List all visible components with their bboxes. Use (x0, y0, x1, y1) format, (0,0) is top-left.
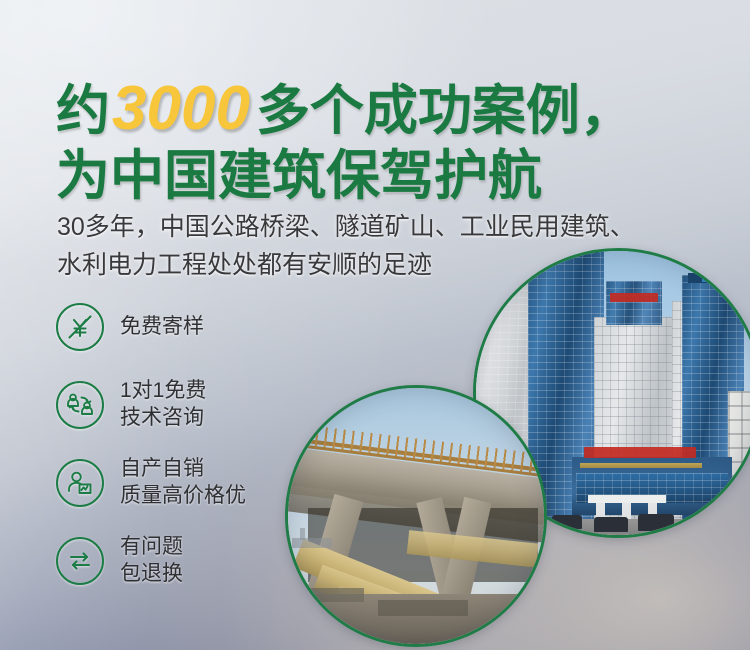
subtitle-line-1: 30多年，中国公路桥梁、隧道矿山、工业民用建筑、 (57, 208, 737, 246)
person-chart-icon (56, 459, 104, 507)
feature-line: 免费寄样 (120, 314, 204, 341)
feature-line: 有问题 (120, 534, 183, 561)
two-person-exchange-icon (56, 381, 104, 429)
feature-list: 免费寄样 1对1免 (56, 296, 246, 608)
photo-bridge (285, 385, 547, 647)
feature-line: 包退换 (120, 561, 183, 588)
feature-label-free-sample: 免费寄样 (120, 314, 204, 341)
photo-bridge-content (288, 388, 544, 644)
feature-label-consult: 1对1免费 技术咨询 (120, 378, 206, 432)
headline-prefix: 约 (56, 81, 110, 141)
yuan-slash-icon (56, 303, 104, 351)
feature-line: 质量高价格优 (120, 483, 246, 510)
feature-line: 1对1免费 (120, 378, 206, 405)
feature-line: 自产自销 (120, 456, 246, 483)
feature-item-consult[interactable]: 1对1免费 技术咨询 (56, 374, 246, 436)
feature-item-free-sample[interactable]: 免费寄样 (56, 296, 246, 358)
feature-item-returns[interactable]: 有问题 包退换 (56, 530, 246, 592)
headline-line-1: 约3000多个成功案例， (56, 76, 716, 143)
headline: 约3000多个成功案例， 为中国建筑保驾护航 (56, 76, 716, 205)
headline-suffix: 多个成功案例， (256, 81, 634, 141)
feature-item-self-produced[interactable]: 自产自销 质量高价格优 (56, 452, 246, 514)
headline-line-2: 为中国建筑保驾护航 (56, 147, 716, 205)
feature-label-returns: 有问题 包退换 (120, 534, 183, 588)
promo-banner: 约3000多个成功案例， 为中国建筑保驾护航 30多年，中国公路桥梁、隧道矿山、… (0, 0, 750, 650)
headline-number: 3000 (110, 74, 256, 143)
feature-line: 技术咨询 (120, 405, 206, 432)
feature-label-self-produced: 自产自销 质量高价格优 (120, 456, 246, 510)
exchange-arrows-icon (56, 537, 104, 585)
